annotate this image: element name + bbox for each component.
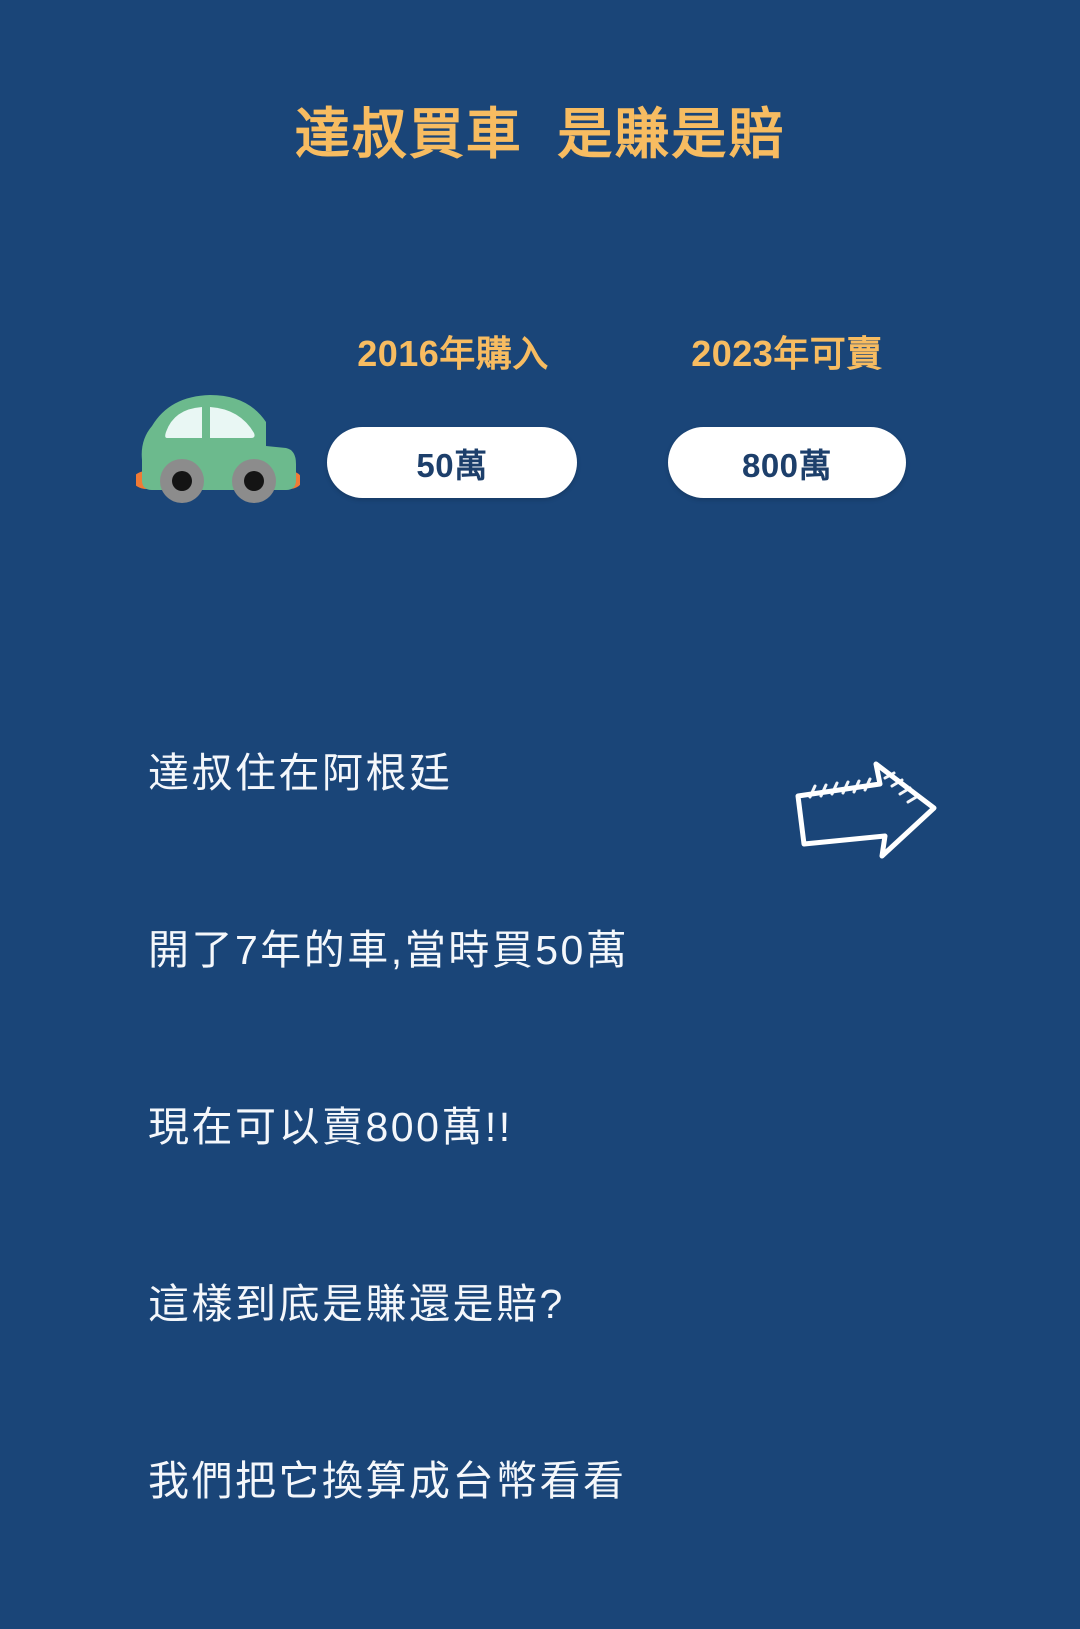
comparison-pill-purchase: 50萬 [327, 427, 577, 498]
comparison-value-resale: 800萬 [742, 439, 832, 487]
comparison-label-resale: 2023年可賣 [668, 330, 906, 378]
hand-drawn-right-arrow-icon [790, 756, 942, 868]
comparison-label-purchase: 2016年購入 [330, 330, 576, 378]
comparison-block: 2016年購入 2023年可賣 50萬 800萬 [0, 330, 1080, 510]
body-paragraph: 達叔住在阿根廷 開了7年的車,當時買50萬 現在可以賣800萬!! 這樣到底是賺… [148, 626, 629, 1629]
body-line: 開了7年的車,當時買50萬 [148, 921, 629, 980]
page-title: 達叔買車 是賺是賠 [0, 104, 1080, 165]
body-line: 達叔住在阿根廷 [148, 744, 629, 803]
comparison-pill-resale: 800萬 [668, 427, 906, 498]
slide-canvas: 達叔買車 是賺是賠 2016年購入 2023年可賣 50萬 [0, 0, 1080, 1080]
body-line: 這樣到底是賺還是賠? [148, 1275, 629, 1334]
comparison-value-purchase: 50萬 [416, 439, 487, 487]
body-line: 我們把它換算成台幣看看 [148, 1452, 629, 1511]
body-line: 現在可以賣800萬!! [148, 1098, 629, 1157]
